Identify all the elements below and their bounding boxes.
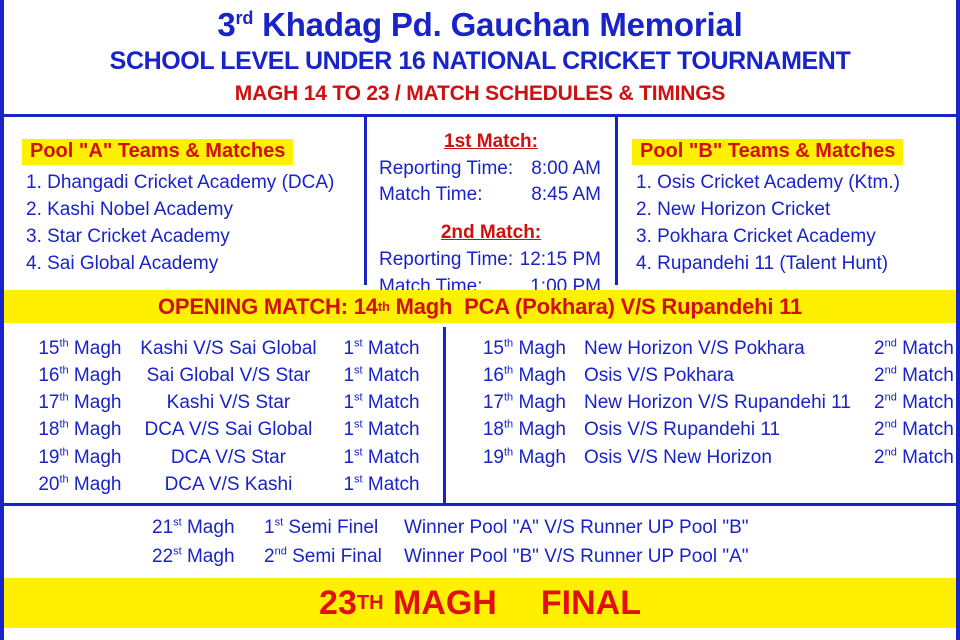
semi-final-fixture: Winner Pool "B" V/S Runner UP Pool "A" bbox=[404, 543, 749, 572]
final-month: MAGH bbox=[393, 584, 497, 623]
schedule-month: Magh bbox=[518, 338, 566, 359]
pool-a-team: 3. Star Cricket Academy bbox=[22, 224, 364, 251]
schedule-fixture: New Horizon V/S Rupandehi 11 bbox=[566, 389, 874, 416]
semi-final-round-suffix: nd bbox=[275, 545, 287, 557]
schedule-slot-number: 2 bbox=[874, 338, 885, 359]
pool-a-heading: Pool "A" Teams & Matches bbox=[22, 139, 293, 165]
schedule-grid: 15th Magh Kashi V/S Sai Global 1st Match… bbox=[4, 327, 956, 506]
semi-final-round-number: 2 bbox=[264, 546, 275, 567]
schedule-slot-suffix: nd bbox=[885, 446, 897, 458]
schedule-row: 17th Magh New Horizon V/S Rupandehi 11 2… bbox=[458, 389, 960, 416]
semi-finals-section: 21st Magh 1st Semi Finel Winner Pool "A"… bbox=[4, 506, 956, 578]
opening-match-banner: OPENING MATCH: 14th Magh PCA (Pokhara) V… bbox=[4, 290, 956, 323]
tournament-schedule-poster: 3rd Khadag Pd. Gauchan Memorial SCHOOL L… bbox=[0, 0, 960, 640]
first-match-time-value: 8:45 AM bbox=[531, 182, 601, 208]
pool-a-team: 2. Kashi Nobel Academy bbox=[22, 197, 364, 224]
schedule-fixture: DCA V/S Star bbox=[121, 444, 335, 471]
semi-final-round-word: Semi Final bbox=[292, 546, 382, 567]
second-match-label: 2nd Match: bbox=[367, 222, 615, 244]
schedule-date: 17th Magh bbox=[458, 389, 566, 416]
schedule-slot-suffix: nd bbox=[885, 365, 897, 377]
schedule-row: 16th Magh Osis V/S Pokhara 2nd Match bbox=[458, 362, 960, 389]
final-date-suffix: TH bbox=[357, 592, 384, 615]
schedule-date-number: 17 bbox=[483, 392, 504, 413]
pool-b-heading: Pool "B" Teams & Matches bbox=[632, 139, 903, 165]
pool-a-team: 1. Dhangadi Cricket Academy (DCA) bbox=[22, 170, 364, 197]
schedule-slot-number: 1 bbox=[343, 419, 354, 440]
schedule-slot-suffix: st bbox=[354, 419, 363, 431]
second-match-reporting-label: Reporting Time: bbox=[379, 247, 513, 273]
schedule-slot-word: Match bbox=[368, 365, 420, 386]
schedule-slot-number: 1 bbox=[343, 474, 354, 495]
schedule-slot-number: 2 bbox=[874, 419, 885, 440]
semi-final-row: 21st Magh 1st Semi Finel Winner Pool "A"… bbox=[4, 514, 956, 543]
opening-match-fixture: PCA (Pokhara) V/S Rupandehi 11 bbox=[464, 294, 802, 320]
schedule-fixture: Sai Global V/S Star bbox=[121, 362, 335, 389]
schedule-slot-number: 2 bbox=[874, 392, 885, 413]
schedule-date: 18th Magh bbox=[458, 416, 566, 443]
schedule-slot-number: 2 bbox=[874, 447, 885, 468]
schedule-row: 15th Magh Kashi V/S Sai Global 1st Match bbox=[4, 335, 443, 362]
schedule-date: 16th Magh bbox=[4, 362, 121, 389]
schedule-date: 19th Magh bbox=[4, 444, 121, 471]
schedule-fixture: DCA V/S Sai Global bbox=[121, 416, 335, 443]
opening-match-date-suffix: th bbox=[378, 299, 390, 314]
first-match-reporting-label: Reporting Time: bbox=[379, 156, 513, 182]
final-match-banner: 23TH MAGHFINAL bbox=[4, 578, 956, 628]
schedule-row: 15th Magh New Horizon V/S Pokhara 2nd Ma… bbox=[458, 335, 960, 362]
schedule-month: Magh bbox=[74, 419, 122, 440]
schedule-date-suffix: th bbox=[59, 365, 68, 377]
schedule-row: 17th Magh Kashi V/S Star 1st Match bbox=[4, 389, 443, 416]
semi-final-date-number: 21 bbox=[152, 517, 173, 538]
first-match-start-time: Match Time: 8:45 AM bbox=[367, 182, 615, 208]
schedule-date-number: 20 bbox=[38, 474, 59, 495]
schedule-date-number: 16 bbox=[38, 365, 59, 386]
pool-b-team: 3. Pokhara Cricket Academy bbox=[632, 224, 956, 251]
schedule-fixture: Osis V/S New Horizon bbox=[566, 444, 874, 471]
schedule-slot-suffix: st bbox=[354, 365, 363, 377]
schedule-month: Magh bbox=[518, 419, 566, 440]
schedule-date-suffix: th bbox=[504, 446, 513, 458]
semi-final-date-suffix: st bbox=[173, 545, 182, 557]
schedule-slot: 1st Match bbox=[335, 362, 443, 389]
schedule-slot-suffix: st bbox=[354, 473, 363, 485]
schedule-date: 19th Magh bbox=[458, 444, 566, 471]
schedule-slot-word: Match bbox=[902, 392, 954, 413]
schedule-date-number: 18 bbox=[38, 419, 59, 440]
schedule-month: Magh bbox=[74, 447, 122, 468]
schedule-date-suffix: th bbox=[504, 392, 513, 404]
schedule-date: 16th Magh bbox=[458, 362, 566, 389]
schedule-row: 18th Magh Osis V/S Rupandehi 11 2nd Matc… bbox=[458, 416, 960, 443]
schedule-date: 15th Magh bbox=[458, 335, 566, 362]
tournament-title: 3rd Khadag Pd. Gauchan Memorial bbox=[4, 8, 956, 43]
first-match-label: 1st Match: bbox=[367, 131, 615, 153]
opening-match-date-number: 14 bbox=[354, 294, 378, 320]
tournament-subtitle: SCHOOL LEVEL UNDER 16 NATIONAL CRICKET T… bbox=[4, 47, 956, 76]
schedule-slot-number: 1 bbox=[343, 392, 354, 413]
final-label: FINAL bbox=[541, 584, 641, 623]
schedule-month: Magh bbox=[74, 474, 122, 495]
schedule-slot-word: Match bbox=[368, 392, 420, 413]
schedule-slot-suffix: nd bbox=[885, 419, 897, 431]
title-main-text: Khadag Pd. Gauchan Memorial bbox=[262, 6, 743, 43]
schedule-slot: 2nd Match bbox=[874, 362, 960, 389]
schedule-slot: 1st Match bbox=[335, 416, 443, 443]
schedule-date-number: 16 bbox=[483, 365, 504, 386]
schedule-date-suffix: th bbox=[504, 338, 513, 350]
schedule-fixture: Kashi V/S Sai Global bbox=[121, 335, 335, 362]
schedule-row: 19th Magh Osis V/S New Horizon 2nd Match bbox=[458, 444, 960, 471]
title-ordinal-number: 3 bbox=[217, 6, 235, 43]
schedule-slot-suffix: nd bbox=[885, 392, 897, 404]
schedule-slot-suffix: st bbox=[354, 446, 363, 458]
semi-final-fixture: Winner Pool "A" V/S Runner UP Pool "B" bbox=[404, 514, 749, 543]
semi-final-date: 22st Magh bbox=[152, 543, 264, 572]
schedule-month: Magh bbox=[518, 447, 566, 468]
schedule-date-number: 17 bbox=[38, 392, 59, 413]
schedule-date-number: 19 bbox=[483, 447, 504, 468]
schedule-month: Magh bbox=[74, 365, 122, 386]
schedule-row: 19th Magh DCA V/S Star 1st Match bbox=[4, 444, 443, 471]
semi-final-round-suffix: st bbox=[275, 517, 284, 529]
schedule-slot-suffix: st bbox=[354, 392, 363, 404]
schedule-slot-number: 1 bbox=[343, 447, 354, 468]
schedule-slot-number: 1 bbox=[343, 338, 354, 359]
schedule-date-suffix: th bbox=[59, 446, 68, 458]
schedule-month: Magh bbox=[74, 338, 122, 359]
schedule-date-number: 19 bbox=[38, 447, 59, 468]
semi-final-row: 22st Magh 2nd Semi Final Winner Pool "B"… bbox=[4, 543, 956, 572]
schedule-date-suffix: th bbox=[59, 338, 68, 350]
pool-b-team: 2. New Horizon Cricket bbox=[632, 197, 956, 224]
pool-b-section: Pool "B" Teams & Matches 1. Osis Cricket… bbox=[618, 117, 956, 285]
semi-final-month: Magh bbox=[187, 546, 235, 567]
schedule-slot-word: Match bbox=[368, 474, 420, 495]
opening-match-prefix: OPENING MATCH: bbox=[158, 294, 348, 320]
schedule-slot-word: Match bbox=[368, 338, 420, 359]
schedule-slot: 1st Match bbox=[335, 444, 443, 471]
pool-b-team: 4. Rupandehi 11 (Talent Hunt) bbox=[632, 251, 956, 278]
schedule-month: Magh bbox=[518, 365, 566, 386]
schedule-row: 18th Magh DCA V/S Sai Global 1st Match bbox=[4, 416, 443, 443]
pool-b-schedule-column: 15th Magh New Horizon V/S Pokhara 2nd Ma… bbox=[446, 327, 960, 503]
schedule-date-suffix: th bbox=[59, 392, 68, 404]
schedule-slot-number: 2 bbox=[874, 365, 885, 386]
semi-final-date-suffix: st bbox=[173, 517, 182, 529]
match-timings-section: 1st Match: Reporting Time: 8:00 AM Match… bbox=[364, 117, 618, 285]
schedule-slot-suffix: st bbox=[354, 338, 363, 350]
schedule-slot-word: Match bbox=[902, 447, 954, 468]
schedule-slot: 1st Match bbox=[335, 471, 443, 498]
schedule-fixture: Kashi V/S Star bbox=[121, 389, 335, 416]
schedule-slot: 1st Match bbox=[335, 335, 443, 362]
opening-match-month: Magh bbox=[396, 294, 453, 320]
semi-final-date-number: 22 bbox=[152, 546, 173, 567]
schedule-date: 18th Magh bbox=[4, 416, 121, 443]
schedule-date-suffix: th bbox=[504, 365, 513, 377]
schedule-slot: 2nd Match bbox=[874, 389, 960, 416]
schedule-date-suffix: th bbox=[59, 419, 68, 431]
semi-final-date: 21st Magh bbox=[152, 514, 264, 543]
pools-and-timing-row: Pool "A" Teams & Matches 1. Dhangadi Cri… bbox=[4, 117, 956, 285]
schedule-date: 15th Magh bbox=[4, 335, 121, 362]
first-match-time-label: Match Time: bbox=[379, 182, 482, 208]
schedule-fixture: Osis V/S Rupandehi 11 bbox=[566, 416, 874, 443]
schedule-slot-suffix: nd bbox=[885, 338, 897, 350]
schedule-slot-word: Match bbox=[902, 365, 954, 386]
schedule-month: Magh bbox=[74, 392, 122, 413]
pool-b-team: 1. Osis Cricket Academy (Ktm.) bbox=[632, 170, 956, 197]
second-match-reporting-value: 12:15 PM bbox=[520, 247, 601, 273]
timing-spacer bbox=[367, 208, 615, 222]
semi-final-month: Magh bbox=[187, 517, 235, 538]
schedule-date-number: 18 bbox=[483, 419, 504, 440]
schedule-fixture: DCA V/S Kashi bbox=[121, 471, 335, 498]
schedule-date: 17th Magh bbox=[4, 389, 121, 416]
schedule-date-number: 15 bbox=[38, 338, 59, 359]
schedule-date-suffix: th bbox=[504, 419, 513, 431]
schedule-slot: 2nd Match bbox=[874, 444, 960, 471]
schedule-slot-word: Match bbox=[368, 447, 420, 468]
schedule-slot: 1st Match bbox=[335, 389, 443, 416]
poster-header: 3rd Khadag Pd. Gauchan Memorial SCHOOL L… bbox=[4, 0, 956, 117]
final-date-number: 23 bbox=[319, 584, 357, 623]
schedule-date: 20th Magh bbox=[4, 471, 121, 498]
schedule-slot-word: Match bbox=[902, 419, 954, 440]
semi-final-round: 2nd Semi Final bbox=[264, 543, 404, 572]
pool-a-section: Pool "A" Teams & Matches 1. Dhangadi Cri… bbox=[4, 117, 364, 285]
schedule-row: 16th Magh Sai Global V/S Star 1st Match bbox=[4, 362, 443, 389]
semi-final-round-number: 1 bbox=[264, 517, 275, 538]
pool-a-schedule-column: 15th Magh Kashi V/S Sai Global 1st Match… bbox=[4, 327, 446, 503]
first-match-reporting-value: 8:00 AM bbox=[531, 156, 601, 182]
schedule-slot: 2nd Match bbox=[874, 335, 960, 362]
semi-final-round: 1st Semi Finel bbox=[264, 514, 404, 543]
schedule-slot-word: Match bbox=[902, 338, 954, 359]
schedule-slot: 2nd Match bbox=[874, 416, 960, 443]
tournament-dates-line: MAGH 14 TO 23 / MATCH SCHEDULES & TIMING… bbox=[4, 82, 956, 106]
schedule-slot-word: Match bbox=[368, 419, 420, 440]
schedule-date-number: 15 bbox=[483, 338, 504, 359]
schedule-slot-number: 1 bbox=[343, 365, 354, 386]
schedule-row: 20th Magh DCA V/S Kashi 1st Match bbox=[4, 471, 443, 498]
pool-a-team: 4. Sai Global Academy bbox=[22, 251, 364, 278]
schedule-fixture: Osis V/S Pokhara bbox=[566, 362, 874, 389]
schedule-fixture: New Horizon V/S Pokhara bbox=[566, 335, 874, 362]
title-ordinal-suffix: rd bbox=[236, 8, 254, 28]
first-match-reporting-time: Reporting Time: 8:00 AM bbox=[367, 156, 615, 182]
schedule-date-suffix: th bbox=[59, 473, 68, 485]
semi-final-round-word: Semi Finel bbox=[288, 517, 378, 538]
second-match-reporting-time: Reporting Time: 12:15 PM bbox=[367, 247, 615, 273]
schedule-month: Magh bbox=[518, 392, 566, 413]
